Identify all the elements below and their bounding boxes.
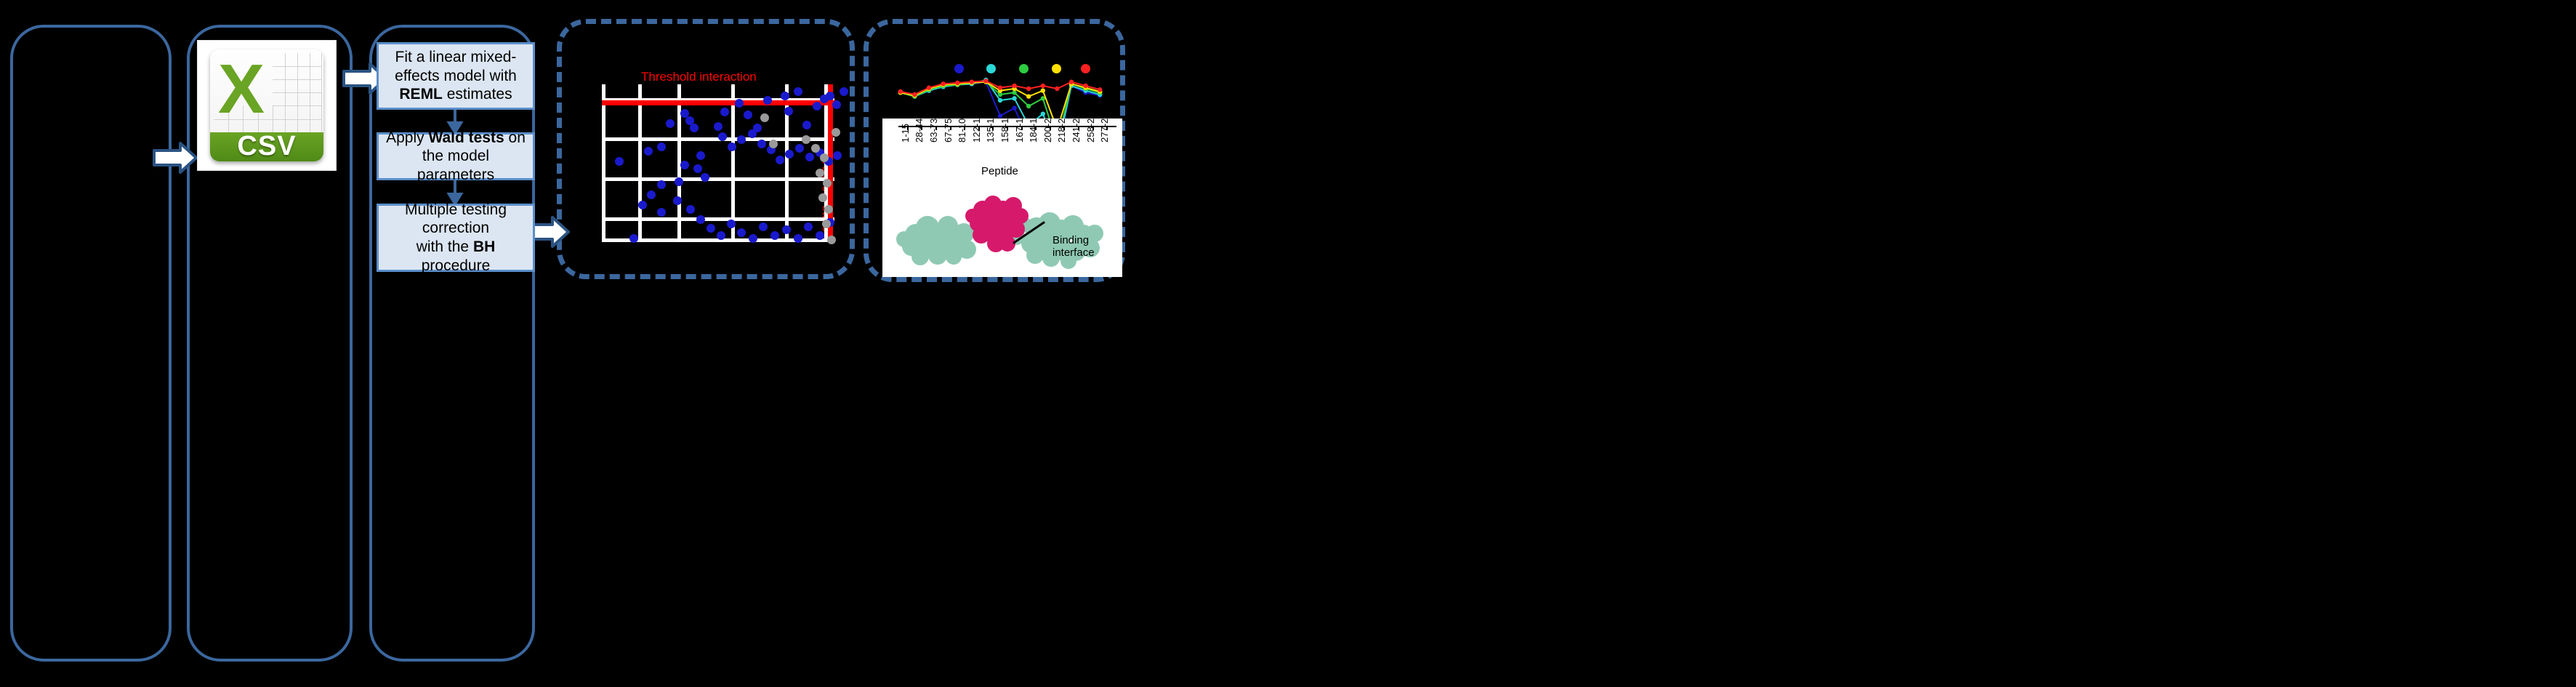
step-text-run: with the	[416, 238, 473, 255]
chart-marker	[927, 85, 931, 89]
step-correction-box[interactable]: Multiple testingcorrectionwith the BH pr…	[377, 204, 535, 272]
connector-wald-to-correction	[446, 180, 466, 204]
step-text-run: Fit a linear mixed-	[395, 49, 517, 65]
step-model-box[interactable]: Fit a linear mixed-effects model withREM…	[377, 42, 535, 110]
scatter-point	[735, 99, 744, 108]
chart-marker	[1026, 94, 1031, 98]
scatter-point	[728, 142, 736, 151]
scatter-point	[763, 96, 772, 105]
scatter-point	[720, 108, 729, 116]
chart-marker	[955, 81, 959, 85]
scatter-point	[782, 225, 791, 234]
chart-marker	[983, 79, 988, 83]
grid-line-v	[638, 84, 642, 238]
chart-marker	[970, 79, 974, 84]
scatter-point-ns	[769, 140, 778, 148]
scatter-point	[784, 107, 793, 116]
scatter-point	[785, 150, 794, 158]
scatter-point	[696, 215, 705, 224]
step-text-run: effects model with	[395, 68, 517, 84]
scatter-point	[794, 234, 802, 243]
step-wald-box[interactable]: Apply Wald tests onthe model parameters	[377, 132, 535, 180]
peptide-tick-label: 167-180	[1014, 118, 1025, 142]
csv-icon-label-band: CSV	[210, 132, 323, 161]
structure-card: 1-1528-4463-7367-7581-101122-129135-1441…	[882, 118, 1122, 277]
scatter-point-ns	[816, 169, 824, 177]
scatter-point	[737, 135, 746, 144]
scatter-point	[776, 156, 784, 164]
peptide-tick-label: 122-129	[971, 118, 982, 142]
scatter-point	[714, 122, 723, 131]
csv-icon-x-letter: X	[218, 55, 255, 113]
chart-marker	[1041, 84, 1045, 88]
scatter-point	[680, 161, 689, 169]
chart-marker	[1012, 96, 1016, 100]
scatter-point-ns	[832, 128, 840, 137]
chart-marker	[998, 85, 1002, 89]
peptide-tick-label: 200-214	[1042, 118, 1053, 142]
chart-marker	[1026, 87, 1031, 91]
scatter-point-ns	[820, 153, 829, 162]
scatter-point-ns	[802, 135, 810, 144]
peptide-tick-label: 135-144	[985, 118, 996, 142]
scatter-point	[795, 144, 804, 153]
scatter-point	[657, 180, 666, 189]
binding-interface-line2: interface	[1052, 247, 1095, 260]
scatter-point	[673, 196, 682, 205]
scatter-point	[690, 124, 699, 132]
step-text-run: BH	[473, 238, 495, 255]
scatter-point	[744, 111, 752, 119]
grid-line-v	[677, 84, 681, 238]
scatter-point	[707, 224, 715, 233]
chart-marker	[1083, 84, 1087, 88]
csv-file-icon: X CSV	[198, 41, 336, 170]
scatter-point	[644, 147, 653, 156]
step-text-run: REML	[399, 86, 443, 103]
chart-marker	[1041, 111, 1045, 116]
grid-line-h	[602, 217, 834, 221]
binding-interface-line1: Binding	[1052, 235, 1095, 247]
step-text-run: correction	[422, 220, 489, 236]
chart-marker	[1055, 87, 1059, 91]
scatter-point	[757, 140, 766, 148]
scatter-point	[833, 151, 842, 160]
chart-marker	[1012, 105, 1016, 110]
scatter-point-ns	[760, 113, 769, 122]
peptide-tick-label: 81-101	[957, 118, 967, 142]
panel-input	[10, 25, 172, 662]
chart-marker	[898, 89, 903, 94]
scatter-point-ns	[823, 179, 832, 188]
peptide-tick-label: 28-44	[914, 118, 925, 142]
step-text-run: on	[504, 129, 526, 146]
connector-model-to-wald	[446, 110, 466, 132]
peptide-tick-label: 218-237	[1056, 118, 1067, 142]
chart-marker	[1069, 79, 1074, 84]
step-text-run: procedure	[422, 257, 491, 274]
chart-marker	[1041, 88, 1045, 92]
protein-structure-render	[882, 181, 1122, 276]
scatter-point-ns	[811, 144, 820, 153]
chart-marker	[1098, 87, 1102, 92]
scatter-point-ns	[824, 205, 833, 214]
grid-line-h	[602, 177, 834, 181]
scatter-point	[802, 121, 811, 129]
scatter-point	[638, 201, 647, 209]
chart-marker	[1026, 104, 1031, 108]
scatter-point	[826, 92, 834, 100]
scatter-point	[737, 228, 746, 237]
scatter-point	[686, 205, 695, 214]
grid-line-v	[602, 84, 605, 238]
csv-icon-body: X CSV	[210, 49, 323, 161]
scatter-point	[804, 222, 813, 231]
x-axis-label: Peptide	[981, 165, 1018, 177]
grid-line-v	[731, 84, 735, 238]
scatter-point	[701, 173, 709, 182]
step-model-text: Fit a linear mixed-effects model withREM…	[389, 47, 523, 105]
scatter-point	[666, 119, 675, 128]
arrow-input-to-csv	[153, 141, 198, 174]
scatter-point	[749, 234, 757, 243]
peptide-tick-label: 277-284	[1099, 118, 1110, 142]
scatter-point	[647, 190, 656, 199]
csv-icon-label: CSV	[237, 131, 296, 161]
step-wald-text: Apply Wald tests onthe model parameters	[379, 127, 533, 186]
step-text-run: Multiple testing	[405, 201, 507, 218]
peptide-tick-label: 158-166	[999, 118, 1010, 142]
threshold-scatter: Threshold interaction Threshold state	[571, 41, 846, 266]
peptide-tick-label: 184-199	[1028, 118, 1039, 142]
scatter-point	[770, 231, 779, 240]
scatter-point	[832, 100, 841, 109]
scatter-point	[813, 102, 821, 111]
step-text-run: the model parameters	[417, 148, 494, 183]
scatter-point	[657, 142, 666, 151]
scatter-point	[794, 87, 802, 96]
scatter-point-ns	[818, 193, 827, 202]
scatter-point	[717, 231, 725, 240]
threshold-line-horizontal	[602, 100, 838, 105]
chart-marker	[998, 113, 1002, 118]
binding-interface-annotation: Binding interface	[1052, 235, 1095, 260]
peptide-tick-label: 63-73	[928, 118, 939, 142]
peptide-tick-label: 258-266	[1085, 118, 1096, 142]
chart-marker	[1012, 84, 1016, 88]
peptide-tick-label: 1-15	[900, 124, 911, 142]
step-text-run: Apply	[386, 129, 428, 146]
peptide-tick-label: 67-75	[943, 118, 954, 142]
chart-marker	[998, 98, 1002, 103]
scatter-point	[657, 208, 666, 217]
chart-marker	[941, 81, 945, 86]
scatter-point-ns	[827, 236, 836, 244]
scatter-point	[615, 157, 624, 166]
scatter-point	[727, 220, 736, 228]
y-tick-label: 0.0	[882, 118, 898, 121]
step-text-run: estimates	[443, 86, 512, 103]
chart-marker	[912, 92, 917, 97]
step-correction-text: Multiple testingcorrectionwith the BH pr…	[379, 199, 533, 276]
scatter-point	[675, 177, 683, 186]
scatter-point	[629, 234, 638, 243]
peptide-tick-label: 241-257	[1071, 118, 1082, 142]
scatter-point	[781, 92, 789, 100]
scatter-point	[693, 164, 702, 173]
step-text-run: Wald tests	[428, 129, 504, 146]
scatter-point	[718, 132, 727, 141]
scatter-point	[759, 222, 768, 231]
scatter-point-ns	[822, 220, 831, 228]
scatter-point	[816, 231, 824, 240]
scatter-point	[696, 151, 705, 160]
scatter-point	[748, 129, 757, 138]
scatter-point	[840, 87, 848, 96]
scatter-point	[805, 153, 814, 161]
threshold-interaction-label: Threshold interaction	[641, 70, 757, 84]
